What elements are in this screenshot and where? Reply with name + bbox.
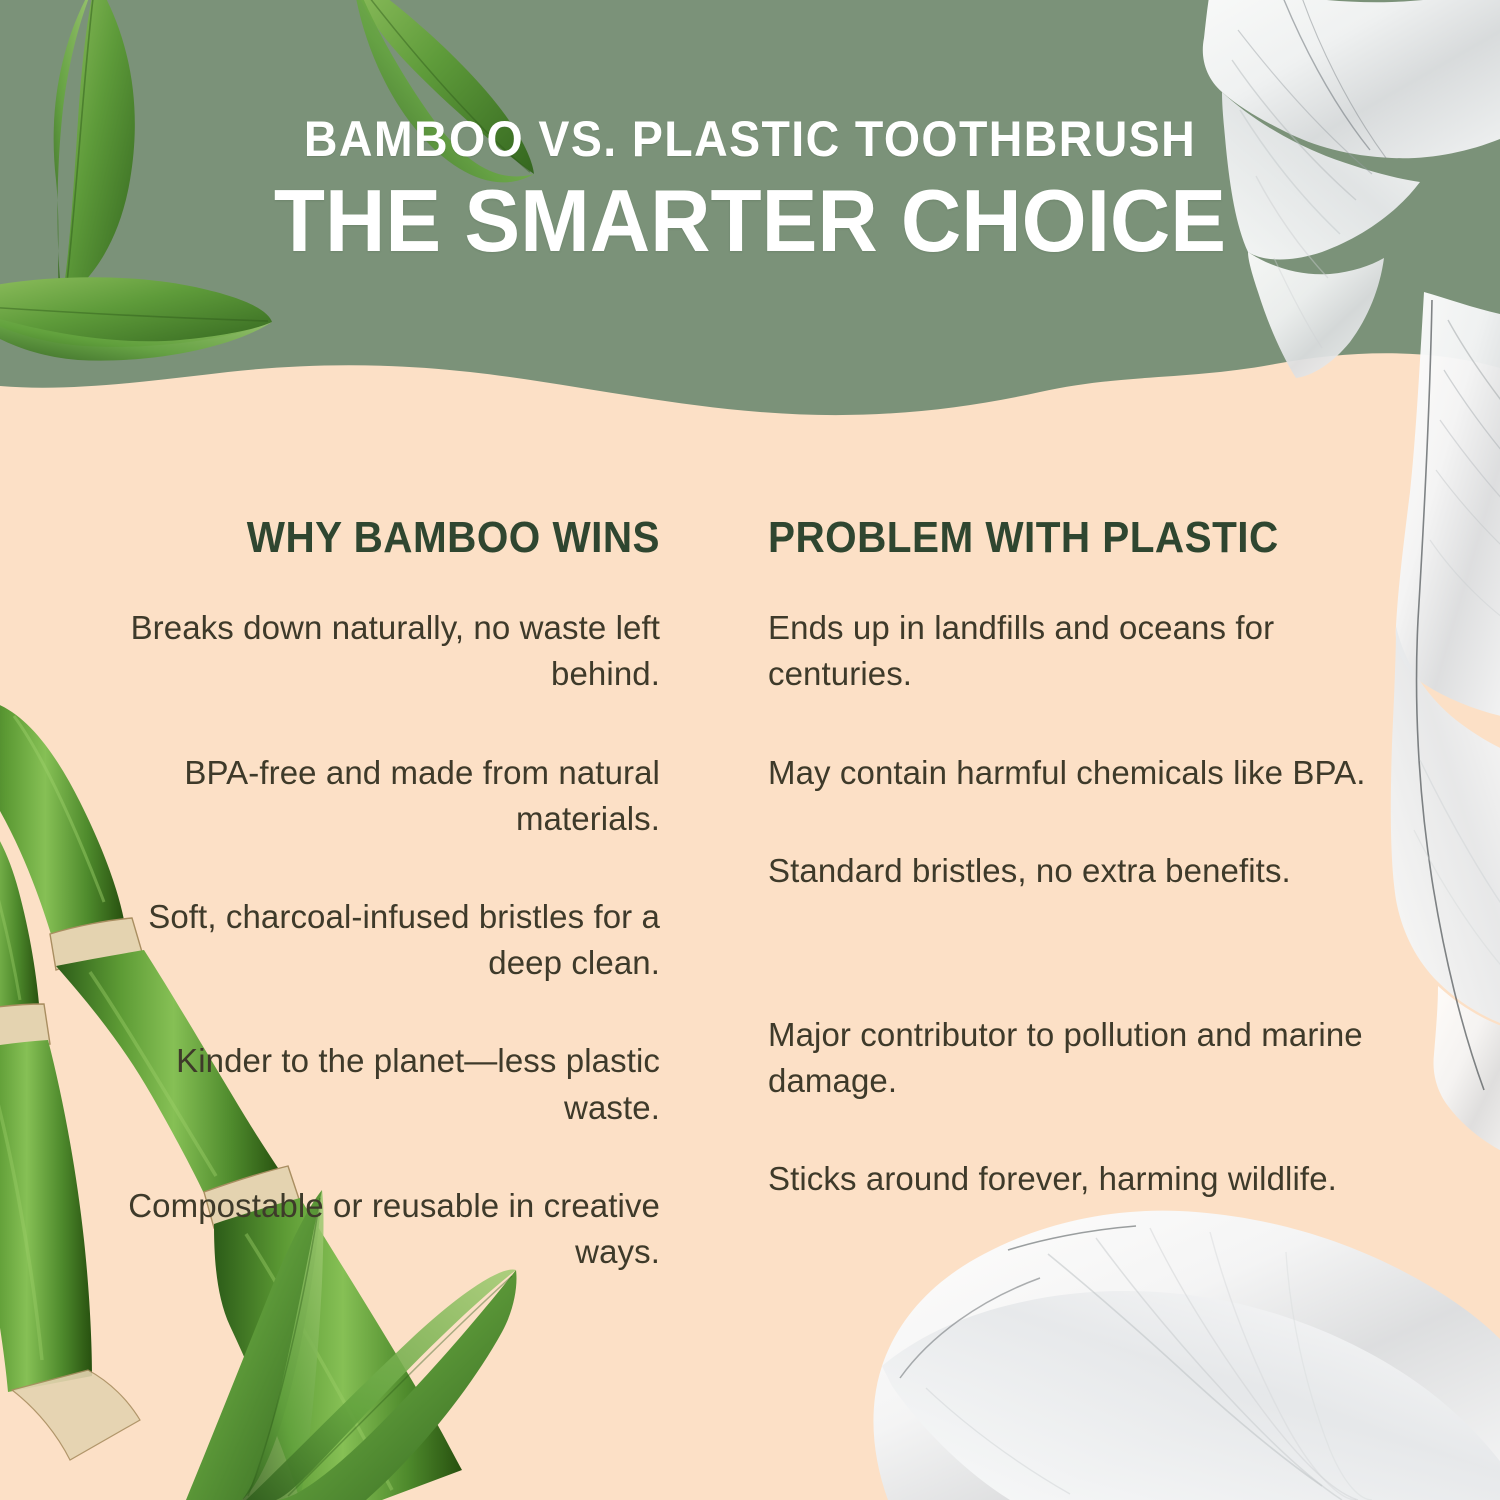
list-item: Standard bristles, no extra benefits.	[768, 848, 1408, 894]
column-heading-plastic: PROBLEM WITH PLASTIC	[768, 515, 1357, 561]
list-item: Ends up in landfills and oceans for cent…	[768, 605, 1408, 697]
column-heading-bamboo: WHY BAMBOO WINS	[145, 515, 660, 561]
plastic-bag-bottom-right	[873, 1211, 1500, 1500]
infographic-poster: BAMBOO VS. PLASTIC TOOTHBRUSH THE SMARTE…	[0, 0, 1500, 1500]
list-item: BPA-free and made from natural materials…	[100, 750, 660, 842]
header-green-wave-shape	[0, 0, 1500, 415]
header-band	[0, 0, 1500, 420]
plastic-point-list: Ends up in landfills and oceans for cent…	[768, 605, 1408, 1202]
bamboo-point-list: Breaks down naturally, no waste left beh…	[100, 605, 660, 1275]
list-item: Breaks down naturally, no waste left beh…	[100, 605, 660, 697]
column-bamboo: WHY BAMBOO WINS Breaks down naturally, n…	[100, 515, 660, 1275]
list-item: Compostable or reusable in creative ways…	[100, 1183, 660, 1275]
list-item: May contain harmful chemicals like BPA.	[768, 750, 1408, 796]
list-item: Soft, charcoal-infused bristles for a de…	[100, 894, 660, 986]
list-item: Kinder to the planet—less plastic waste.	[100, 1038, 660, 1130]
column-plastic: PROBLEM WITH PLASTIC Ends up in landfill…	[768, 515, 1408, 1203]
list-item: Major contributor to pollution and marin…	[768, 1012, 1408, 1104]
list-item: Sticks around forever, harming wildlife.	[768, 1156, 1408, 1202]
